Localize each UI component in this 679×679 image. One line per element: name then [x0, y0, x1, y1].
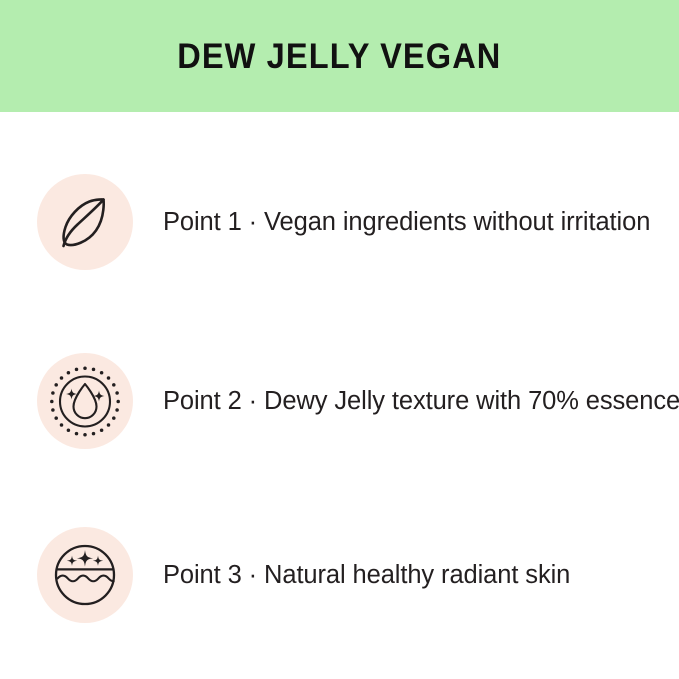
- promo-banner: DEW JELLY VEGAN Point 1 · Vegan ingredie…: [0, 0, 679, 679]
- list-item: Point 2 · Dewy Jelly texture with 70% es…: [0, 352, 679, 450]
- water-drop-sparkle-icon: [49, 365, 121, 437]
- page-title: DEW JELLY VEGAN: [177, 39, 501, 74]
- header-band: DEW JELLY VEGAN: [0, 0, 679, 112]
- feature-text: Point 2 · Dewy Jelly texture with 70% es…: [163, 387, 679, 415]
- icon-badge: [37, 527, 133, 623]
- feature-list: Point 1 · Vegan ingredients without irri…: [0, 112, 679, 679]
- list-item: Point 3 · Natural healthy radiant skin: [0, 526, 679, 624]
- list-item: Point 1 · Vegan ingredients without irri…: [0, 173, 679, 271]
- icon-badge: [37, 353, 133, 449]
- feature-text: Point 3 · Natural healthy radiant skin: [163, 561, 570, 589]
- icon-badge: [37, 174, 133, 270]
- radiant-skin-icon: [53, 543, 117, 607]
- leaf-icon: [54, 191, 116, 253]
- feature-text: Point 1 · Vegan ingredients without irri…: [163, 208, 650, 236]
